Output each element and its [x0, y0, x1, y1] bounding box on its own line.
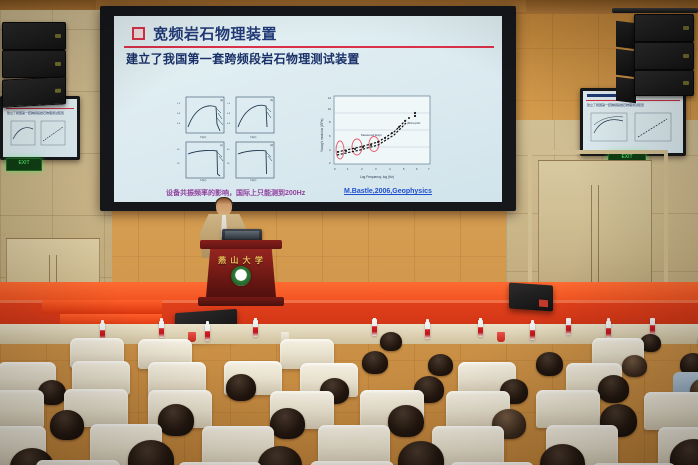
water-bottle [478, 320, 483, 337]
hanging-speaker-left-1 [2, 22, 66, 50]
podium: 燕 山 大 学 [206, 240, 276, 322]
seat[interactable] [0, 390, 44, 428]
svg-text:(d): (d) [270, 143, 273, 147]
svg-text:1.0: 1.0 [227, 103, 231, 105]
audience-head [50, 410, 84, 440]
slide-divider-rule [124, 46, 494, 48]
svg-text:7: 7 [428, 167, 430, 171]
svg-text:1: 1 [347, 167, 349, 171]
red-square-bullet-icon [132, 27, 145, 40]
speaker-rigging-bar [612, 8, 698, 13]
water-bottle [372, 319, 377, 336]
left-monitor-subtitle: 建立了我国第一套跨频段岩石物理测试装置 [7, 111, 64, 115]
svg-text:12: 12 [328, 96, 332, 100]
svg-text:4: 4 [329, 148, 331, 152]
svg-text:2: 2 [329, 161, 331, 165]
svg-text:(a): (a) [220, 98, 223, 102]
water-bottle [425, 322, 430, 339]
slide-subtitle: 建立了我国第一套跨频段岩石物理测试装置 [126, 50, 360, 67]
right-monitor-subtitle: 建立了我国第一套跨频段岩石物理测试装置 [587, 103, 644, 107]
hanging-speaker-right-wing-1 [616, 21, 636, 49]
university-seal-emblem [231, 266, 251, 286]
lecture-hall-photo: 宽频岩石物理装置 建立了我国第一套跨频段岩石物理测试装置 [0, 0, 698, 465]
svg-text:6: 6 [329, 134, 331, 138]
hanging-speaker-right-wing-2 [616, 49, 636, 77]
svg-text:0.6: 0.6 [227, 123, 231, 125]
svg-text:4: 4 [389, 167, 391, 171]
svg-text:0.6: 0.6 [177, 123, 181, 125]
seat[interactable] [644, 392, 698, 430]
hanging-speaker-right-2 [634, 42, 694, 70]
svg-text:Measured Edyn: Measured Edyn [361, 133, 382, 137]
slide-title: 宽频岩石物理装置 [153, 23, 277, 44]
svg-text:Young's modulus (GPa): Young's modulus (GPa) [320, 119, 324, 152]
svg-text:f (Hz): f (Hz) [200, 135, 206, 139]
hanging-speaker-left-2 [2, 50, 66, 78]
audience-head [362, 351, 388, 374]
hanging-speaker-left-3 [2, 76, 66, 107]
svg-text:5: 5 [403, 167, 405, 171]
podium-base [198, 297, 284, 306]
audience-head [428, 354, 453, 376]
svg-text:8: 8 [329, 120, 331, 124]
hanging-speaker-right-1 [634, 14, 694, 42]
svg-text:20: 20 [177, 163, 180, 165]
audience-head [536, 352, 563, 376]
presenter-head [216, 198, 232, 216]
paper-cup [497, 332, 505, 342]
audience-head [380, 332, 402, 351]
svg-text:0: 0 [334, 167, 336, 171]
audience-head [622, 355, 647, 377]
water-bottle [530, 323, 535, 340]
hanging-speaker-right-wing-3 [616, 77, 636, 103]
svg-text:6: 6 [416, 167, 418, 171]
svg-text:f (Hz): f (Hz) [250, 178, 256, 182]
seat[interactable] [36, 460, 120, 465]
slide-title-row: 宽频岩石物理装置 [132, 23, 277, 44]
svg-text:f (Hz): f (Hz) [200, 178, 206, 182]
svg-text:40: 40 [177, 149, 180, 151]
svg-text:3: 3 [375, 167, 377, 171]
water-bottle [253, 320, 258, 337]
svg-text:0.8: 0.8 [177, 113, 181, 115]
svg-text:(Brine)/Hz: (Brine)/Hz [407, 121, 421, 125]
water-bottle [650, 318, 655, 335]
projection-screen-bezel: 宽频岩石物理装置 建立了我国第一套跨频段岩石物理测试装置 [100, 6, 516, 211]
svg-text:0.8: 0.8 [227, 113, 231, 115]
hanging-speaker-right-3 [634, 70, 694, 96]
slide-figure-right: Measured Edyn (Brine)/Hz 246 81012 012 3… [314, 92, 439, 184]
seat[interactable] [310, 461, 394, 465]
water-bottle [566, 318, 571, 335]
svg-text:(b): (b) [270, 98, 273, 102]
audience-head [598, 375, 629, 403]
podium-top [200, 240, 282, 249]
svg-text:(c): (c) [220, 143, 223, 147]
projection-screen: 宽频岩石物理装置 建立了我国第一套跨频段岩石物理测试装置 [114, 16, 502, 202]
svg-text:Log Frequency, log (Hz): Log Frequency, log (Hz) [360, 175, 394, 179]
slide-caption-left: 设备共振频率的影响，国际上只能测到200Hz [166, 188, 305, 198]
water-bottle [159, 321, 164, 338]
audience-head [226, 374, 256, 401]
stage-monitor-right [509, 282, 553, 311]
water-bottle [205, 324, 210, 341]
svg-text:40: 40 [227, 149, 230, 151]
water-bottle [606, 321, 611, 338]
svg-text:10: 10 [328, 107, 332, 111]
seat[interactable] [318, 425, 390, 465]
slide-figure-left: (a)(b) (c)(d) f (Hz)f (Hz) f (Hz)f (Hz) … [176, 94, 286, 182]
audience-area [0, 318, 698, 465]
seat[interactable] [536, 390, 600, 428]
audience-head [388, 405, 424, 437]
exit-sign-left: EXIT [6, 158, 42, 171]
podium-text: 燕 山 大 学 [206, 255, 276, 266]
svg-text:20: 20 [227, 163, 230, 165]
svg-text:f (Hz): f (Hz) [250, 135, 256, 139]
audience-head [270, 408, 305, 439]
audience-head [158, 404, 194, 436]
svg-text:2: 2 [361, 167, 363, 171]
slide-caption-right: M.Bastle,2006,Geophysics [344, 188, 432, 195]
svg-text:1.0: 1.0 [177, 103, 181, 105]
